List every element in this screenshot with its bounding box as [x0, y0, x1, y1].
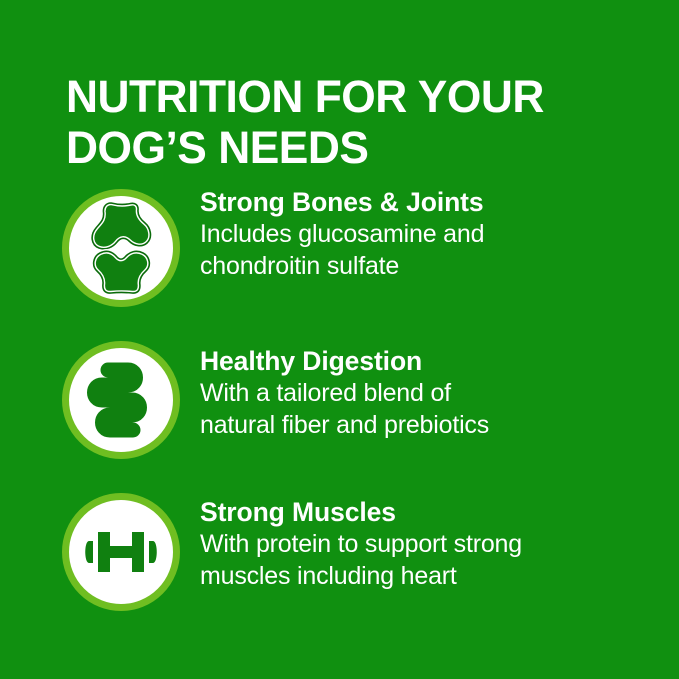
- feature-description: With a tailored blend of natural fiber a…: [200, 377, 650, 441]
- feature-row: Strong Muscles With protein to support s…: [0, 490, 679, 642]
- feature-row: Strong Bones & Joints Includes glucosami…: [0, 186, 679, 338]
- feature-title: Strong Muscles: [200, 496, 650, 528]
- feature-description: With protein to support strong muscles i…: [200, 528, 650, 592]
- feature-text-block: Healthy Digestion With a tailored blend …: [200, 345, 650, 441]
- page-title: NUTRITION FOR YOUR DOG’S NEEDS: [66, 71, 646, 173]
- feature-description-line: With a tailored blend of: [200, 377, 650, 409]
- dumbbell-icon-badge: [62, 493, 180, 611]
- feature-row: Healthy Digestion With a tailored blend …: [0, 338, 679, 490]
- nutrition-benefits-poster: NUTRITION FOR YOUR DOG’S NEEDS Strong Bo…: [0, 0, 679, 679]
- feature-list: Strong Bones & Joints Includes glucosami…: [0, 186, 679, 642]
- headline-line-1: NUTRITION FOR YOUR: [66, 71, 637, 122]
- bone-joint-icon-badge: [62, 189, 180, 307]
- feature-description: Includes glucosamine and chondroitin sul…: [200, 218, 650, 282]
- feature-description-line: With protein to support strong: [200, 528, 650, 560]
- feature-description-line: chondroitin sulfate: [200, 250, 650, 282]
- feature-description-line: muscles including heart: [200, 560, 650, 592]
- feature-title: Healthy Digestion: [200, 345, 650, 377]
- feature-title: Strong Bones & Joints: [200, 186, 650, 218]
- intestine-icon: [86, 361, 156, 439]
- dumbbell-icon: [81, 527, 161, 577]
- feature-description-line: natural fiber and prebiotics: [200, 409, 650, 441]
- bone-joint-icon: [84, 201, 158, 295]
- feature-text-block: Strong Muscles With protein to support s…: [200, 496, 650, 592]
- feature-text-block: Strong Bones & Joints Includes glucosami…: [200, 186, 650, 282]
- intestine-icon-badge: [62, 341, 180, 459]
- headline-line-2: DOG’S NEEDS: [66, 122, 637, 173]
- feature-description-line: Includes glucosamine and: [200, 218, 650, 250]
